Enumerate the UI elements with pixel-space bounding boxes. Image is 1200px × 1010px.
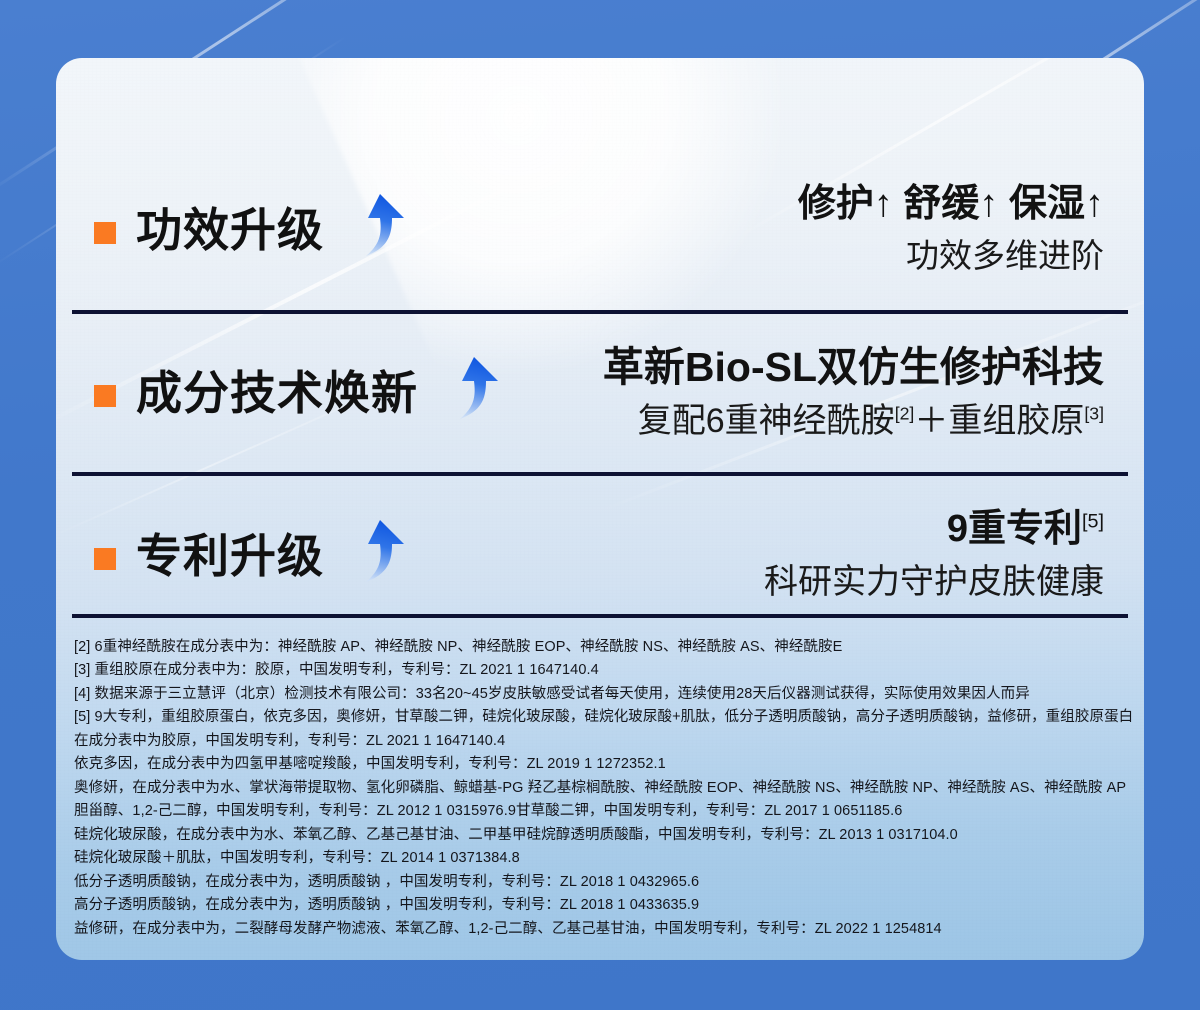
section-divider xyxy=(72,614,1128,618)
feature-title: 功效升级 xyxy=(136,207,324,253)
footnote-line: 奥修妍，在成分表中为水、掌状海带提取物、氢化卵磷脂、鲸蜡基-PG 羟乙基棕榈酰胺… xyxy=(74,777,1126,800)
feature-headline: 修护↑ 舒缓↑ 保湿↑ xyxy=(798,182,1104,227)
footnote-line: [3] 重组胶原在成分表中为：胶原，中国发明专利，专利号：ZL 2021 1 1… xyxy=(74,659,1126,682)
footnote-line: 胆甾醇、1,2-己二醇，中国发明专利，专利号：ZL 2012 1 0315976… xyxy=(74,800,1126,823)
feature-headline: 革新Bio-SL双仿生修护科技 xyxy=(603,343,1104,391)
footnotes-block: [2] 6重神经酰胺在成分表中为：神经酰胺 AP、神经酰胺 NP、神经酰胺 EO… xyxy=(74,636,1126,941)
orange-square-bullet-icon xyxy=(94,548,116,570)
feature-title: 专利升级 xyxy=(136,533,324,579)
feature-subline: 科研实力守护皮肤健康 xyxy=(764,560,1104,604)
feature-headline: 9重专利[5] xyxy=(764,507,1104,552)
footnote-line: [2] 6重神经酰胺在成分表中为：神经酰胺 AP、神经酰胺 NP、神经酰胺 EO… xyxy=(74,636,1126,659)
up-arrow-icon xyxy=(444,355,500,426)
footnote-line: 依克多因，在成分表中为四氢甲基嘧啶羧酸，中国发明专利，专利号：ZL 2019 1… xyxy=(74,753,1126,776)
footnote-line: [5] 9大专利，重组胶原蛋白，依克多因，奥修妍，甘草酸二钾，硅烷化玻尿酸，硅烷… xyxy=(74,706,1126,729)
feature-row-efficacy: 功效升级 xyxy=(72,170,1128,290)
footnote-line: [4] 数据来源于三立慧评（北京）检测技术有限公司：33名20~45岁皮肤敏感受… xyxy=(74,683,1126,706)
subline-part-a: 复配6重神经酰胺 xyxy=(638,402,895,440)
footnote-line: 高分子透明质酸钠，在成分表中为，透明质酸钠 ，中国发明专利，专利号：ZL 201… xyxy=(74,894,1126,917)
content-card: 功效升级 xyxy=(56,58,1144,960)
section-divider xyxy=(72,472,1128,476)
section-divider xyxy=(72,310,1128,314)
feature-claim-group: 9重专利[5] 科研实力守护皮肤健康 xyxy=(764,507,1128,604)
feature-label-group: 成分技术焕新 xyxy=(72,361,500,426)
up-arrow-icon xyxy=(350,192,406,263)
subline-part-b: ＋重组胶原 xyxy=(914,402,1084,440)
orange-square-bullet-icon xyxy=(94,385,116,407)
up-arrow-icon xyxy=(350,518,406,589)
headline-main: 9重专利 xyxy=(947,508,1082,550)
feature-label-group: 专利升级 xyxy=(72,524,406,589)
footnote-line: 硅烷化玻尿酸，在成分表中为水、苯氧乙醇、乙基己基甘油、二甲基甲硅烷醇透明质酸酯，… xyxy=(74,824,1126,847)
feature-subline: 功效多维进阶 xyxy=(798,235,1104,278)
footnote-ref-5: [5] xyxy=(1082,511,1104,533)
feature-claim-group: 修护↑ 舒缓↑ 保湿↑ 功效多维进阶 xyxy=(798,182,1128,278)
footnote-line: 低分子透明质酸钠，在成分表中为，透明质酸钠 ，中国发明专利，专利号：ZL 201… xyxy=(74,871,1126,894)
footnote-ref-2: [2] xyxy=(895,404,915,424)
feature-label-group: 功效升级 xyxy=(72,198,406,263)
feature-subline: 复配6重神经酰胺[2]＋重组胶原[3] xyxy=(603,399,1104,443)
feature-claim-group: 革新Bio-SL双仿生修护科技 复配6重神经酰胺[2]＋重组胶原[3] xyxy=(603,343,1128,444)
footnote-line: 硅烷化玻尿酸＋肌肽，中国发明专利，专利号：ZL 2014 1 0371384.8 xyxy=(74,847,1126,870)
orange-square-bullet-icon xyxy=(94,222,116,244)
feature-title: 成分技术焕新 xyxy=(136,370,418,416)
card-content: 功效升级 xyxy=(56,58,1144,960)
promo-poster: 功效升级 xyxy=(0,0,1200,1010)
feature-row-formula: 成分技术焕新 革新Bio-SL双仿生修护科技 复配6重神经酰胺[2]＋重组胶原[… xyxy=(72,330,1128,456)
footnote-ref-3: [3] xyxy=(1084,404,1104,424)
footnote-line: 益修研，在成分表中为，二裂酵母发酵产物滤液、苯氧乙醇、1,2-己二醇、乙基己基甘… xyxy=(74,918,1126,941)
feature-row-patent: 专利升级 9重专利[5] 科研实力守护皮肤健康 xyxy=(72,490,1128,622)
footnote-line: 在成分表中为胶原，中国发明专利，专利号：ZL 2021 1 1647140.4 xyxy=(74,730,1126,753)
